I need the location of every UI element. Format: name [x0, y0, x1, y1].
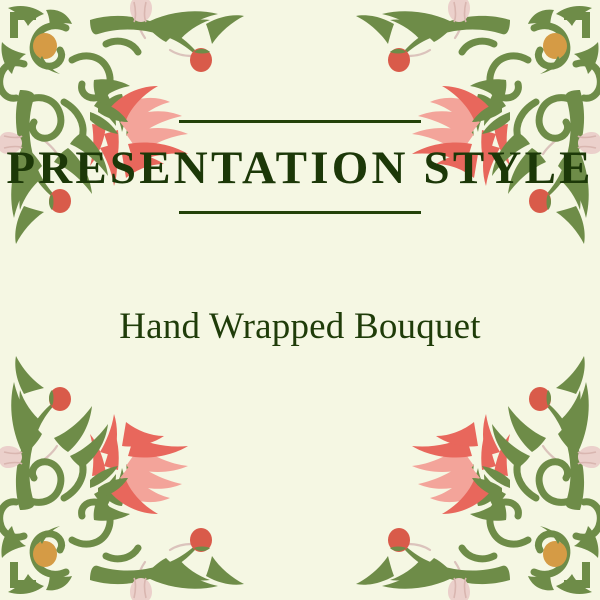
floral-corner-ornament-bottom-right [356, 356, 600, 600]
page-subtitle: Hand Wrapped Bouquet [0, 305, 600, 349]
divider-rule-bottom [179, 211, 421, 214]
floral-corner-ornament-bottom-left [0, 356, 244, 600]
divider-rule-top [179, 120, 421, 123]
title-block: PRESENTATION STYLE Hand Wrapped Bouquet [0, 120, 600, 214]
poster-canvas: PRESENTATION STYLE Hand Wrapped Bouquet [0, 0, 600, 600]
page-title: PRESENTATION STYLE [0, 139, 600, 197]
